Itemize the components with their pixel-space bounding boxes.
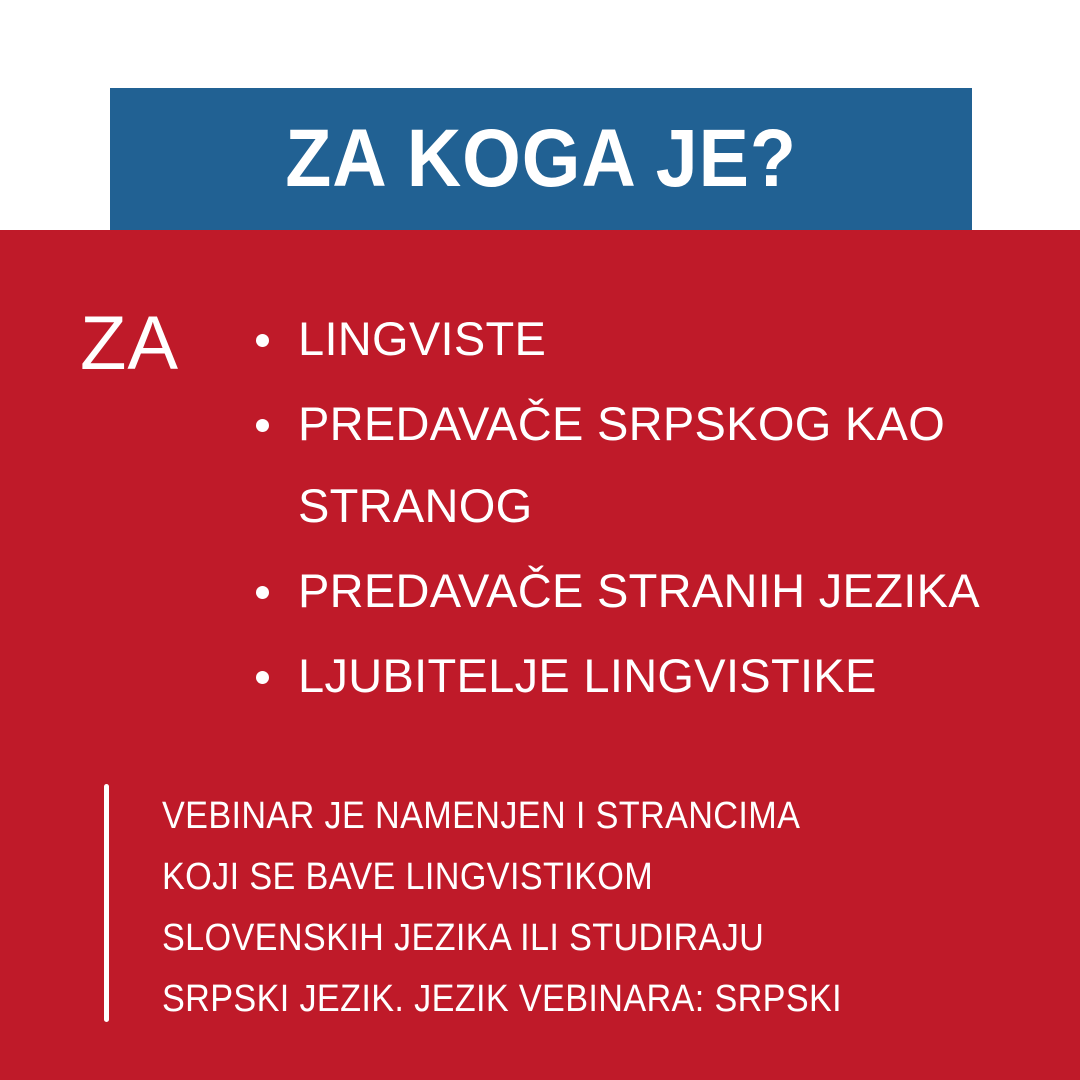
note-line: SRPSKI JEZIK. JEZIK VEBINARA: SRPSKI [162, 969, 842, 1030]
list-item: LJUBITELJE LINGVISTIKE [248, 635, 988, 717]
list-item: LINGVISTE [248, 298, 988, 380]
bullet-dot-icon [256, 671, 269, 684]
bullet-dot-icon [256, 419, 269, 432]
bullet-dot-icon [256, 334, 269, 347]
list-item-label: PREDAVAČE SRPSKOG KAO STRANOG [298, 397, 945, 532]
list-item: PREDAVAČE STRANIH JEZIKA [248, 550, 988, 632]
note-accent-rule [104, 784, 109, 1022]
note-line: SLOVENSKIH JEZIKA ILI STUDIRAJU [162, 908, 842, 969]
audience-list: LINGVISTE PREDAVAČE SRPSKOG KAO STRANOG … [248, 298, 988, 720]
page-title: ZA KOGA JE? [285, 118, 797, 200]
list-item-label: PREDAVAČE STRANIH JEZIKA [298, 564, 980, 617]
poster-canvas: ZA KOGA JE? ZA LINGVISTE PREDAVAČE SRPSK… [0, 0, 1080, 1080]
audience-label: ZA [80, 306, 179, 382]
list-item: PREDAVAČE SRPSKOG KAO STRANOG [248, 383, 988, 547]
note-block: VEBINAR JE NAMENJEN I STRANCIMA KOJI SE … [104, 784, 964, 1030]
title-banner: ZA KOGA JE? [110, 88, 972, 230]
note-line: KOJI SE BAVE LINGVISTIKOM [162, 847, 842, 908]
list-item-label: LINGVISTE [298, 312, 546, 365]
bullet-dot-icon [256, 586, 269, 599]
list-item-label: LJUBITELJE LINGVISTIKE [298, 649, 877, 702]
note-line: VEBINAR JE NAMENJEN I STRANCIMA [162, 786, 842, 847]
note-text: VEBINAR JE NAMENJEN I STRANCIMA KOJI SE … [162, 784, 918, 1030]
